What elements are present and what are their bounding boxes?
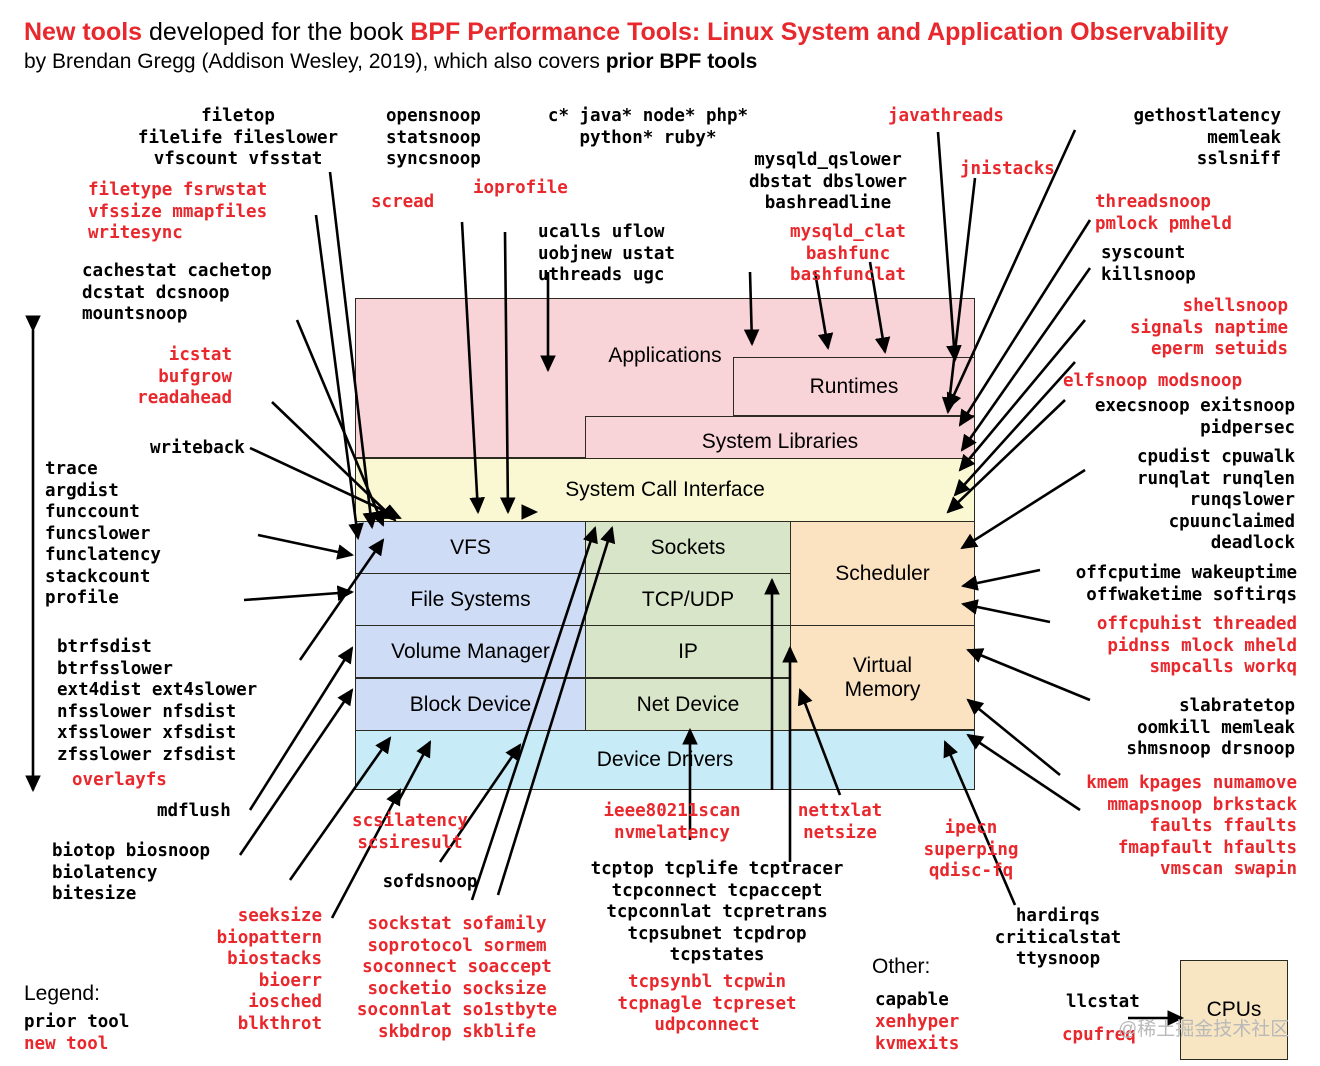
box-label-file-systems: File Systems	[410, 588, 530, 612]
box-label-system-libraries: System Libraries	[702, 430, 858, 454]
elfsnoop-group: elfsnoop modsnoop	[1063, 371, 1242, 393]
filetype-group: filetype fsrwstat vfssize mmapfiles writ…	[88, 180, 267, 245]
box-label-applications: Applications	[608, 344, 721, 368]
langs-group: c* java* node* php* python* ruby*	[548, 106, 748, 149]
box-label-ip: IP	[678, 640, 698, 664]
btrfs-group: btrfsdist btrfsslower ext4dist ext4slowe…	[57, 637, 257, 766]
box-label-virtual-memory: Virtual Memory	[845, 654, 921, 701]
ipecn-group: ipecn superping qdisc-fq	[924, 818, 1019, 883]
jnistacks-group: jnistacks	[960, 159, 1055, 181]
threadsnoop-group: threadsnoop pmlock pmheld	[1095, 192, 1232, 235]
mysqldclat-group: mysqld_clat bashfunc bashfunclat	[790, 222, 906, 287]
box-ip: IP	[585, 625, 791, 678]
box-sockets: Sockets	[585, 521, 791, 574]
gethostlatency-group: gethostlatency memleak sslsniff	[1133, 106, 1281, 171]
title-new-tools: New tools	[24, 18, 142, 46]
box-label-device-drivers: Device Drivers	[597, 748, 734, 772]
llcstat-group: llcstat	[1066, 992, 1140, 1014]
box-scheduler: Scheduler	[790, 521, 975, 626]
sockstat-group: sockstat sofamily soprotocol sormem soco…	[357, 914, 557, 1043]
legend-title: Legend:	[24, 982, 100, 1006]
kmem-group: kmem kpages numamove mmapsnoop brkstack …	[1086, 773, 1297, 881]
box-label-block-device: Block Device	[410, 693, 531, 717]
execsnoop-group: execsnoop exitsnoop pidpersec	[1095, 396, 1295, 439]
box-label-scheduler: Scheduler	[835, 562, 930, 586]
title-book-name: BPF Performance Tools: Linux System and …	[410, 18, 1228, 46]
box-runtimes: Runtimes	[733, 357, 975, 416]
box-virtual-memory: Virtual Memory	[790, 625, 975, 730]
page-title-line2: by Brendan Gregg (Addison Wesley, 2019),…	[24, 50, 757, 74]
slabratetop-group: slabratetop oomkill memleak shmsnoop drs…	[1126, 696, 1295, 761]
file-top-group: filetop filelife fileslower vfscount vfs…	[138, 106, 338, 171]
box-vfs: VFS	[355, 521, 586, 574]
mdflush-group: mdflush	[157, 801, 231, 823]
title-prior-tools: prior BPF tools	[606, 50, 758, 73]
page-title-line1: New tools developed for the book BPF Per…	[24, 18, 1229, 47]
box-device-drivers: Device Drivers	[355, 730, 975, 790]
capable-group: capable	[875, 990, 949, 1012]
offcpuhist-group: offcpuhist threaded pidnss mlock mheld s…	[1097, 614, 1297, 679]
box-label-runtimes: Runtimes	[810, 375, 899, 399]
ucalls-group: ucalls uflow uobjnew ustat uthreads ugc	[538, 222, 675, 287]
sofdsnoop-group: sofdsnoop	[383, 872, 478, 894]
box-cpus: CPUs	[1180, 960, 1288, 1060]
nettxlat-group: nettxlat netsize	[798, 801, 882, 844]
offcputime-group: offcputime wakeuptime offwaketime softir…	[1076, 563, 1297, 606]
overlayfs-group: overlayfs	[72, 770, 167, 792]
javathreads-group: javathreads	[888, 106, 1004, 128]
box-volume-manager: Volume Manager	[355, 625, 586, 678]
tcpsynbl-group: tcpsynbl tcpwin tcpnagle tcpreset udpcon…	[617, 972, 796, 1037]
box-label-system-call-interface: System Call Interface	[565, 478, 765, 502]
opensnoop-group: opensnoop statsnoop syncsnoop	[386, 106, 481, 171]
biotop-group: biotop biosnoop biolatency bitesize	[52, 841, 210, 906]
shellsnoop-group: shellsnoop signals naptime eperm setuids	[1130, 296, 1288, 361]
bpf-tools-diagram: New tools developed for the book BPF Per…	[0, 0, 1320, 1066]
seeksize-group: seeksize biopattern biostacks bioerr ios…	[217, 906, 322, 1035]
box-net-device: Net Device	[585, 678, 791, 731]
box-label-vfs: VFS	[450, 536, 491, 560]
box-block-device: Block Device	[355, 678, 586, 731]
scsi-group: scsilatency scsiresult	[352, 811, 468, 854]
syscount-group: syscount killsnoop	[1101, 243, 1196, 286]
box-system-call-interface: System Call Interface	[355, 458, 975, 522]
mysqld-group: mysqld_qslower dbstat dbslower bashreadl…	[749, 150, 907, 215]
ieee80211scan-group: ieee80211scan nvmelatency	[604, 801, 741, 844]
xenhyper-group: xenhyper kvmexits	[875, 1012, 959, 1055]
title-mid-text: developed for the book	[142, 18, 410, 46]
legend-prior-tool: prior tool	[24, 1012, 129, 1032]
icstat-group: icstat bufgrow readahead	[137, 345, 232, 410]
legend-new-tool: new tool	[24, 1034, 108, 1054]
box-tcp-udp: TCP/UDP	[585, 573, 791, 626]
watermark: @稀土掘金技术社区	[1118, 1014, 1289, 1041]
tcptop-group: tcptop tcplife tcptracer tcpconnect tcpa…	[591, 859, 844, 967]
hardirqs-group: hardirqs criticalstat ttysnoop	[995, 906, 1121, 971]
cpudist-group: cpudist cpuwalk runqlat runqlen runqslow…	[1137, 447, 1295, 555]
scread-group: scread	[371, 192, 434, 214]
box-label-volume-manager: Volume Manager	[391, 640, 550, 664]
other-section-title: Other:	[872, 955, 930, 979]
box-label-net-device: Net Device	[637, 693, 740, 717]
box-label-sockets: Sockets	[651, 536, 726, 560]
box-file-systems: File Systems	[355, 573, 586, 626]
cachestat-group: cachestat cachetop dcstat dcsnoop mounts…	[82, 261, 272, 326]
trace-group: trace argdist funccount funcslower funcl…	[45, 459, 161, 610]
title-author: by Brendan Gregg (Addison Wesley, 2019),…	[24, 50, 606, 73]
writeback-group: writeback	[150, 438, 245, 460]
ioprofile-group: ioprofile	[473, 178, 568, 200]
box-label-tcp-udp: TCP/UDP	[642, 588, 734, 612]
